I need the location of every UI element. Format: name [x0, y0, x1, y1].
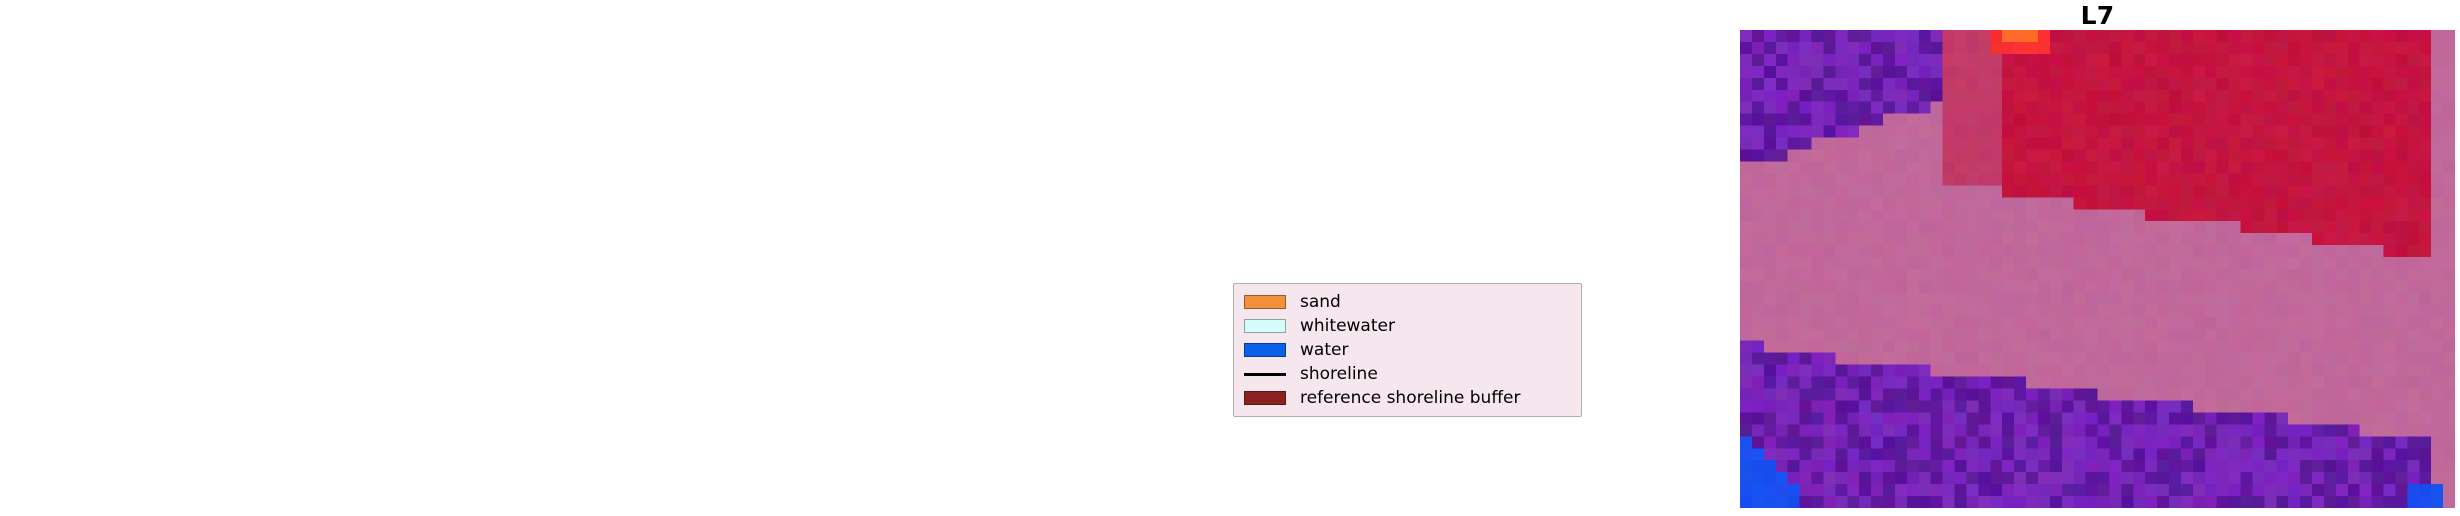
panel-l7: L7: [0, 0, 2460, 516]
panel-title-l7: L7: [1740, 2, 2455, 30]
legend-item-sand: sand: [1244, 292, 1571, 312]
legend-item-whitewater: whitewater: [1244, 316, 1571, 336]
legend-item-reference-buffer: reference shoreline buffer: [1244, 388, 1571, 408]
whitewater-swatch-icon: [1244, 319, 1286, 333]
legend-item-shoreline: shoreline: [1244, 364, 1571, 384]
reference-buffer-swatch-icon: [1244, 391, 1286, 405]
legend-item-water: water: [1244, 340, 1571, 360]
l7-raster-canvas: [1740, 30, 2455, 508]
shoreline-line-icon: [1244, 367, 1286, 381]
legend-label-reference-buffer: reference shoreline buffer: [1300, 389, 1521, 407]
figure-canvas: sar0130 2013-05-07-09-56-14 L7 sand whit…: [0, 0, 2460, 516]
legend-label-shoreline: shoreline: [1300, 365, 1378, 383]
legend-label-sand: sand: [1300, 293, 1341, 311]
sand-swatch-icon: [1244, 295, 1286, 309]
water-swatch-icon: [1244, 343, 1286, 357]
legend-label-whitewater: whitewater: [1300, 317, 1395, 335]
class-legend: sand whitewater water shoreline referenc…: [1233, 283, 1582, 417]
l7-raster-image: [1740, 30, 2455, 508]
legend-label-water: water: [1300, 341, 1348, 359]
